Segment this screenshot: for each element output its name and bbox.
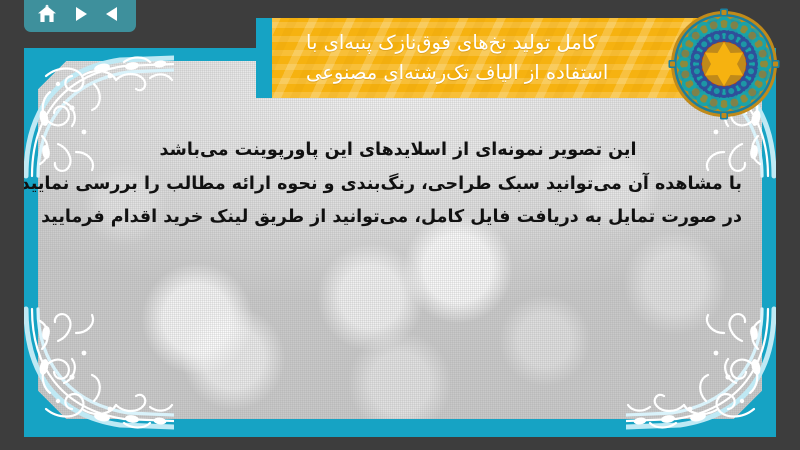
slide-body-text: این تصویر نمونه‌ای از اسلایدهای این پاور… bbox=[54, 134, 742, 235]
title-line-2: استفاده از الیاف تک‌رشته‌ای مصنوعی bbox=[306, 58, 608, 88]
home-button[interactable] bbox=[33, 1, 61, 27]
slide-title-banner: کامل تولید نخ‌های فوق‌نازک پنبه‌ای با اس… bbox=[272, 18, 724, 98]
body-line-3: در صورت تمایل به دریافت فایل کامل، می‌تو… bbox=[54, 201, 742, 235]
title-line-1: کامل تولید نخ‌های فوق‌نازک پنبه‌ای با bbox=[306, 28, 597, 58]
home-icon bbox=[36, 4, 58, 24]
triangle-right-icon bbox=[70, 4, 90, 24]
mandala-icon bbox=[668, 8, 780, 120]
back-button[interactable] bbox=[99, 1, 127, 27]
persian-mandala-medallion bbox=[668, 8, 780, 120]
halftone-texture-overlay bbox=[38, 61, 762, 419]
slide-viewer: این تصویر نمونه‌ای از اسلایدهای این پاور… bbox=[0, 0, 800, 450]
triangle-left-icon bbox=[103, 4, 123, 24]
slide-canvas: این تصویر نمونه‌ای از اسلایدهای این پاور… bbox=[24, 48, 776, 437]
forward-button[interactable] bbox=[66, 1, 94, 27]
body-line-2: با مشاهده آن می‌توانید سبک طراحی، رنگ‌بن… bbox=[54, 168, 742, 202]
navigation-toolbar bbox=[24, 0, 136, 32]
body-line-1: این تصویر نمونه‌ای از اسلایدهای این پاور… bbox=[54, 134, 742, 168]
slide-background-panel bbox=[38, 61, 762, 419]
